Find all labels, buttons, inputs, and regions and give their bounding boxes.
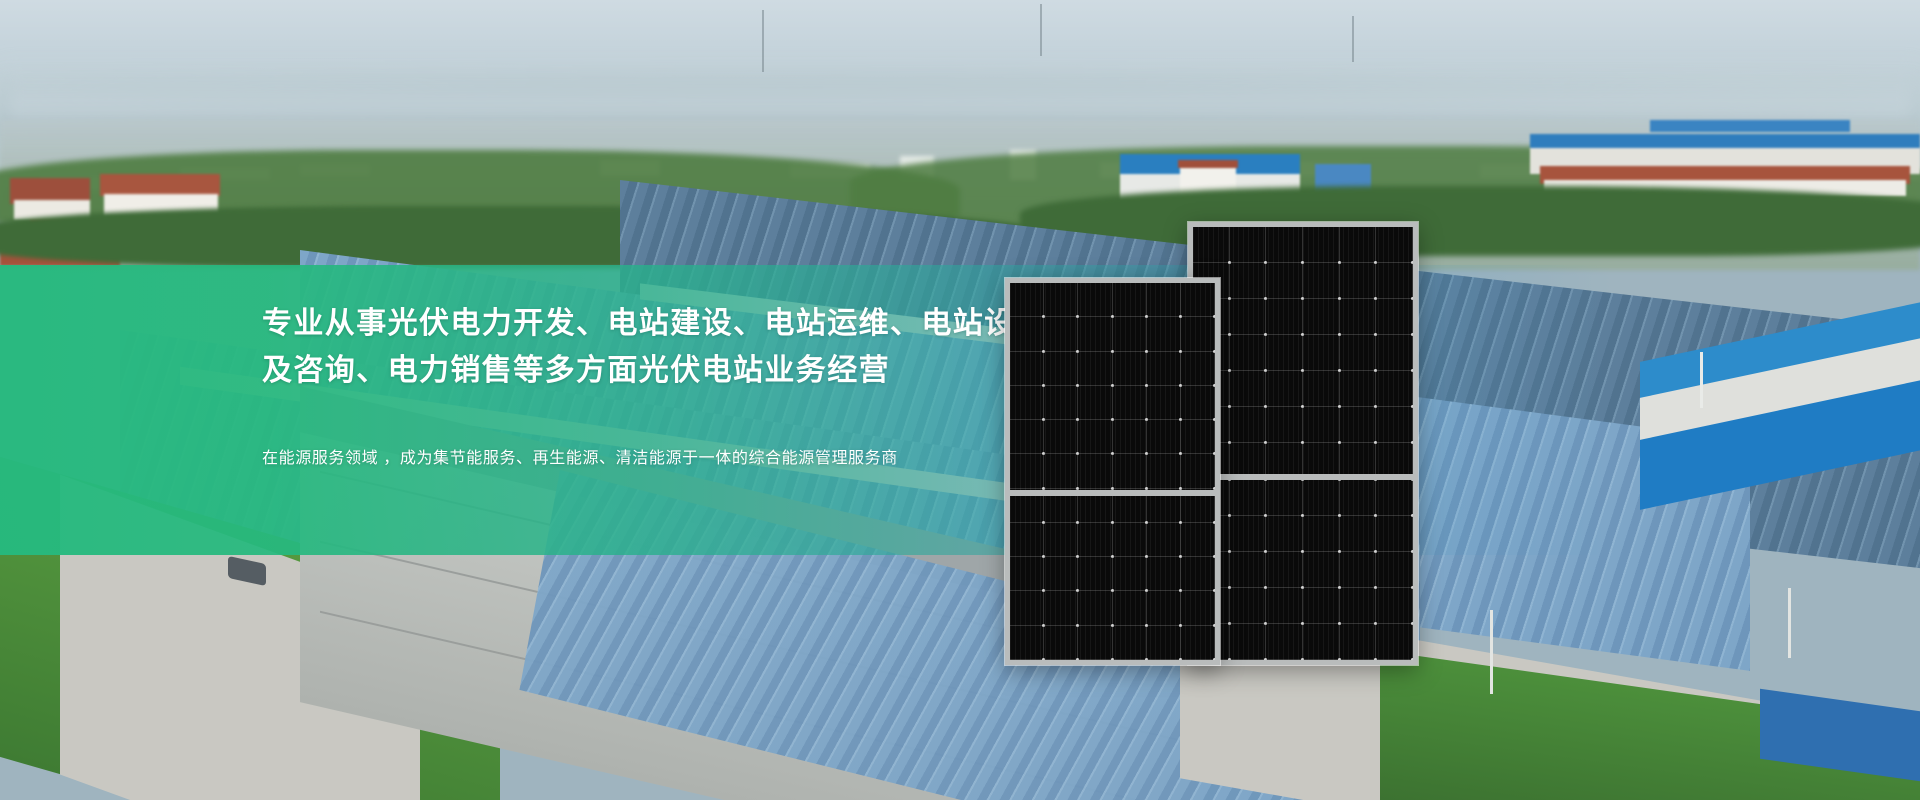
panel-cell-grid <box>1193 227 1413 660</box>
panel-cell <box>1376 299 1413 335</box>
panel-cell <box>1078 454 1112 488</box>
panel-cell <box>1181 454 1215 488</box>
panel-cell <box>1010 454 1044 488</box>
panel-cell <box>1230 552 1267 588</box>
panel-cell <box>1303 263 1340 299</box>
panel-cell <box>1230 263 1267 299</box>
panel-cell <box>1340 516 1377 552</box>
panel-cell <box>1303 624 1340 660</box>
panel-cell <box>1078 557 1112 591</box>
panel-cell <box>1181 352 1215 386</box>
panel-cell <box>1340 335 1377 371</box>
panel-cell <box>1078 523 1112 557</box>
panel-cell <box>1078 386 1112 420</box>
panel-cell <box>1010 523 1044 557</box>
panel-cell <box>1376 263 1413 299</box>
panel-cell <box>1376 588 1413 624</box>
panel-cell <box>1147 591 1181 625</box>
panel-cell <box>1044 454 1078 488</box>
panel-cell <box>1010 352 1044 386</box>
panel-cell <box>1303 299 1340 335</box>
panel-cell <box>1266 335 1303 371</box>
panel-cell <box>1230 624 1267 660</box>
panel-cell <box>1113 626 1147 660</box>
transmission-tower <box>1352 16 1354 62</box>
panel-cell <box>1266 227 1303 263</box>
panel-cell <box>1010 626 1044 660</box>
panel-cell <box>1181 557 1215 591</box>
transmission-tower <box>1040 4 1042 56</box>
panel-cell <box>1113 557 1147 591</box>
panel-cell <box>1230 588 1267 624</box>
panel-cell <box>1230 299 1267 335</box>
panel-cell <box>1376 371 1413 407</box>
panel-cell <box>1376 480 1413 516</box>
panel-mid-bar <box>1010 490 1215 496</box>
panel-cell <box>1266 552 1303 588</box>
panel-cell <box>1303 335 1340 371</box>
panel-cell <box>1266 263 1303 299</box>
panel-cell <box>1181 591 1215 625</box>
panel-cell <box>1266 407 1303 443</box>
panel-cell <box>1181 386 1215 420</box>
panel-cell <box>1078 420 1112 454</box>
panel-cell <box>1303 480 1340 516</box>
panel-cell <box>1181 626 1215 660</box>
panel-cell <box>1340 624 1377 660</box>
panel-cell <box>1044 283 1078 317</box>
panel-cell <box>1266 299 1303 335</box>
panel-cell <box>1303 516 1340 552</box>
panel-cell <box>1113 317 1147 351</box>
panel-cell <box>1340 371 1377 407</box>
transmission-tower <box>762 10 764 72</box>
street-lamp <box>1490 610 1493 694</box>
panel-cell <box>1376 516 1413 552</box>
panel-cell <box>1376 335 1413 371</box>
panel-cell <box>1113 523 1147 557</box>
panel-cell <box>1230 335 1267 371</box>
panel-glass <box>1010 283 1215 660</box>
panel-cell <box>1147 283 1181 317</box>
panel-cell <box>1340 227 1377 263</box>
panel-cell <box>1147 626 1181 660</box>
solar-panel-front <box>1005 278 1220 665</box>
solar-panel-back <box>1188 222 1418 665</box>
panel-cell <box>1010 591 1044 625</box>
panel-cell <box>1266 371 1303 407</box>
panel-cell <box>1044 386 1078 420</box>
panel-cell <box>1010 420 1044 454</box>
panel-cell <box>1044 557 1078 591</box>
panel-cell <box>1147 352 1181 386</box>
panel-cell <box>1340 263 1377 299</box>
panel-cell <box>1266 516 1303 552</box>
panel-cell <box>1044 317 1078 351</box>
panel-cell <box>1010 283 1044 317</box>
street-lamp <box>1788 588 1791 658</box>
panel-cell <box>1044 523 1078 557</box>
panel-cell <box>1044 591 1078 625</box>
panel-cell <box>1147 557 1181 591</box>
panel-cell <box>1010 317 1044 351</box>
panel-cell <box>1147 386 1181 420</box>
panel-cell <box>1266 624 1303 660</box>
panel-cell <box>1376 552 1413 588</box>
panel-cell <box>1010 386 1044 420</box>
panel-cell <box>1113 283 1147 317</box>
panel-cell <box>1147 317 1181 351</box>
panel-cell <box>1181 420 1215 454</box>
panel-mid-bar <box>1193 474 1413 480</box>
panel-cell <box>1044 352 1078 386</box>
panel-cell <box>1303 552 1340 588</box>
panel-cell <box>1230 371 1267 407</box>
panel-cell <box>1230 227 1267 263</box>
panel-cell <box>1340 480 1377 516</box>
panel-cell <box>1340 299 1377 335</box>
panel-cell <box>1181 523 1215 557</box>
panel-cell <box>1113 352 1147 386</box>
panel-cell <box>1230 480 1267 516</box>
panel-cell <box>1340 552 1377 588</box>
panel-cell <box>1266 588 1303 624</box>
panel-cell <box>1147 420 1181 454</box>
panel-cell <box>1340 588 1377 624</box>
panel-cell <box>1376 227 1413 263</box>
panel-cell <box>1303 227 1340 263</box>
panel-cell <box>1044 626 1078 660</box>
panel-cell <box>1230 407 1267 443</box>
panel-cell <box>1113 420 1147 454</box>
panel-cell <box>1044 420 1078 454</box>
panel-cell <box>1340 407 1377 443</box>
panel-cell <box>1113 591 1147 625</box>
hero-banner: 专业从事光伏电力开发、电站建设、电站运维、电站设计 及咨询、电力销售等多方面光伏… <box>0 0 1920 800</box>
panel-cell <box>1303 371 1340 407</box>
panel-cell <box>1147 454 1181 488</box>
panel-cell <box>1113 386 1147 420</box>
panel-cell <box>1078 352 1112 386</box>
panel-cell <box>1376 624 1413 660</box>
panel-cell <box>1181 283 1215 317</box>
panel-cell <box>1078 591 1112 625</box>
panel-cell <box>1078 626 1112 660</box>
panel-cell <box>1303 588 1340 624</box>
panel-cell-grid <box>1010 283 1215 660</box>
panel-cell <box>1266 480 1303 516</box>
panel-cell <box>1193 227 1230 263</box>
panel-cell <box>1010 557 1044 591</box>
panel-cell <box>1078 283 1112 317</box>
panel-cell <box>1230 516 1267 552</box>
panel-cell <box>1303 407 1340 443</box>
panel-cell <box>1113 454 1147 488</box>
panel-cell <box>1181 317 1215 351</box>
panel-cell <box>1147 523 1181 557</box>
panel-cell <box>1078 317 1112 351</box>
panel-cell <box>1376 407 1413 443</box>
panel-glass <box>1193 227 1413 660</box>
